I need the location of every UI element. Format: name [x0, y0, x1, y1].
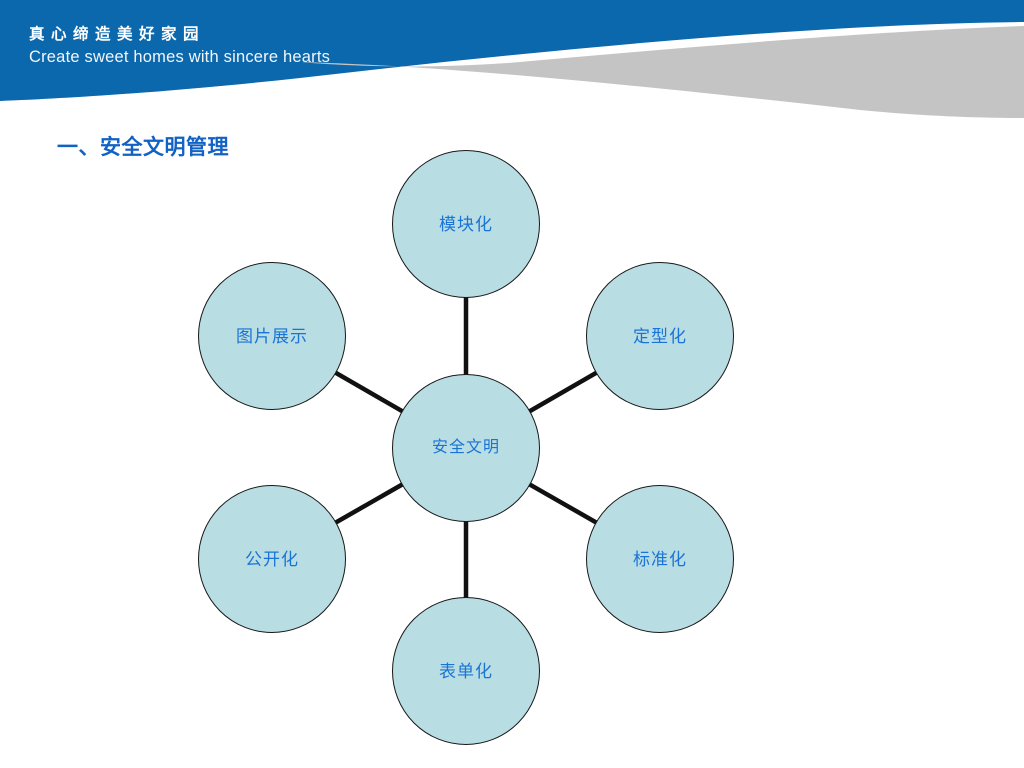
- node-bottom-left-label: 公开化: [245, 551, 299, 568]
- node-bottom-right-label: 标准化: [633, 551, 687, 568]
- node-center-hub[interactable]: 安全文明: [392, 374, 540, 522]
- node-top-right-label: 定型化: [633, 328, 687, 345]
- node-bottom-label: 表单化: [439, 663, 493, 680]
- node-bottom-right[interactable]: 标准化: [586, 485, 734, 633]
- header-title-en: Create sweet homes with sincere hearts: [29, 46, 330, 68]
- slide-canvas: 真心缔造美好家园 Create sweet homes with sincere…: [0, 0, 1024, 768]
- node-bottom[interactable]: 表单化: [392, 597, 540, 745]
- node-bottom-left[interactable]: 公开化: [198, 485, 346, 633]
- node-top-left[interactable]: 图片展示: [198, 262, 346, 410]
- node-top[interactable]: 模块化: [392, 150, 540, 298]
- header-title-group: 真心缔造美好家园 Create sweet homes with sincere…: [29, 24, 330, 68]
- node-center-label: 安全文明: [432, 440, 500, 456]
- node-top-right[interactable]: 定型化: [586, 262, 734, 410]
- header-title-cn: 真心缔造美好家园: [29, 24, 330, 45]
- node-top-label: 模块化: [439, 216, 493, 233]
- node-top-left-label: 图片展示: [236, 328, 308, 345]
